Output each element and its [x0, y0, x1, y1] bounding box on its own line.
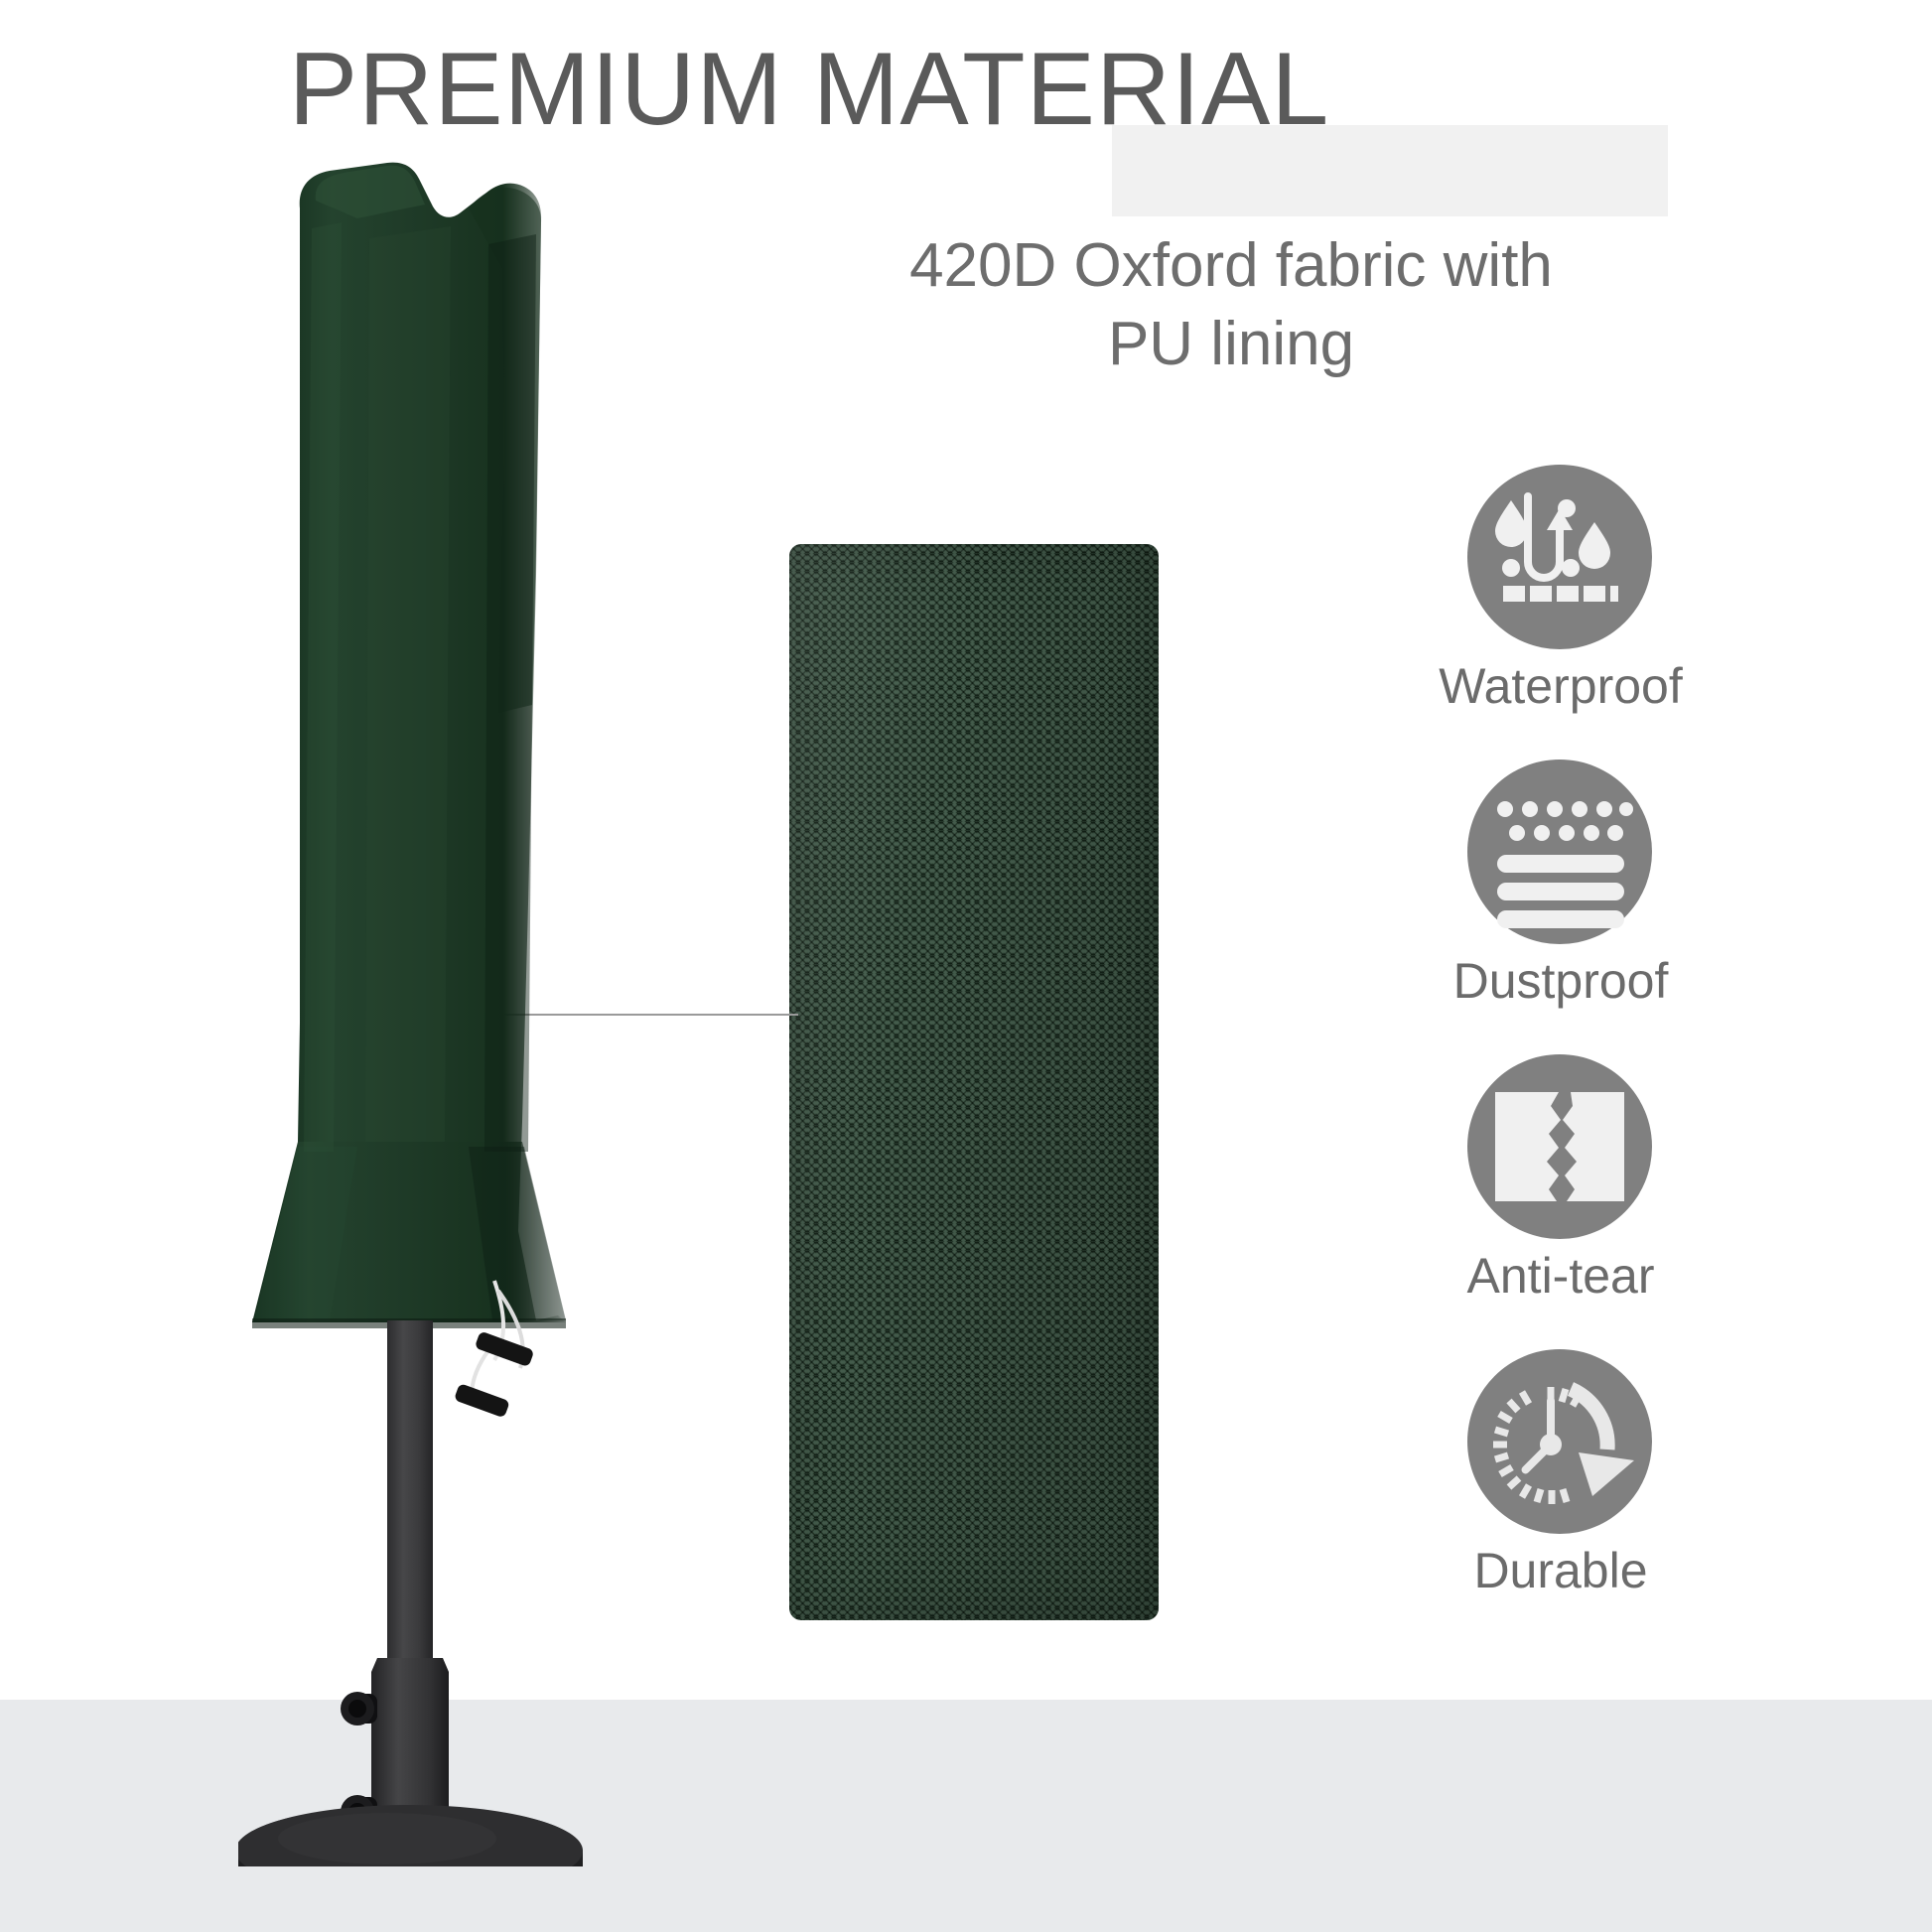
anti-tear-icon — [1467, 1054, 1652, 1239]
feature-item-anti-tear: Anti-tear — [1372, 1054, 1729, 1349]
feature-label-waterproof: Waterproof — [1372, 657, 1749, 715]
subtitle-line-2: PU lining — [874, 305, 1588, 383]
subtitle-line-1: 420D Oxford fabric with — [874, 226, 1588, 305]
dustproof-icon — [1467, 759, 1652, 944]
subtitle: 420D Oxford fabric with PU lining — [874, 226, 1588, 384]
feature-label-anti-tear: Anti-tear — [1372, 1247, 1749, 1305]
durable-clock-icon — [1467, 1349, 1652, 1534]
feature-list: Waterproof — [1372, 465, 1729, 1644]
feature-item-waterproof: Waterproof — [1372, 465, 1729, 759]
oxford-fabric-swatch — [789, 544, 1159, 1620]
feature-label-dustproof: Dustproof — [1372, 952, 1749, 1010]
feature-item-dustproof: Dustproof — [1372, 759, 1729, 1054]
waterproof-icon — [1467, 465, 1652, 649]
feature-label-durable: Durable — [1372, 1542, 1749, 1599]
swatch-sheen — [789, 544, 1159, 1620]
page-title: PREMIUM MATERIAL — [0, 36, 1618, 144]
infographic-canvas: PREMIUM MATERIAL 420D Oxford fabric with… — [0, 0, 1932, 1932]
feature-item-durable: Durable — [1372, 1349, 1729, 1644]
umbrella-product — [238, 149, 695, 1866]
